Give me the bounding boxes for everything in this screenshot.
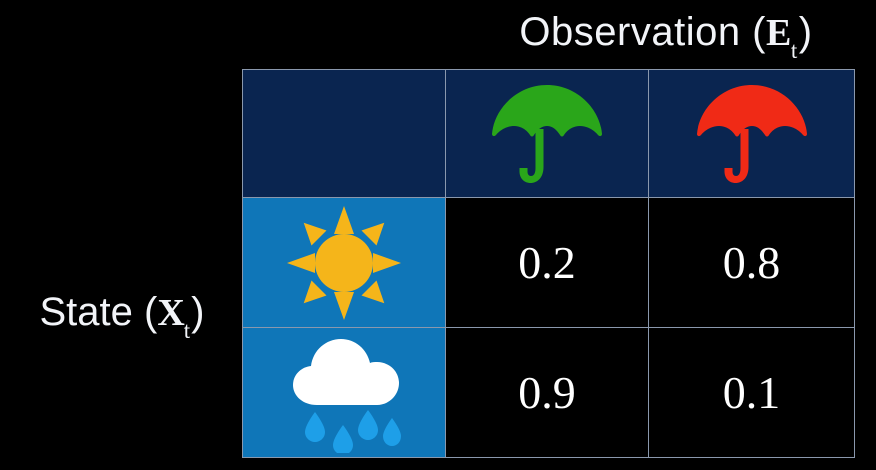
table-header-row bbox=[243, 70, 855, 198]
prob-value: 0.2 bbox=[446, 240, 648, 286]
observation-axis-label: Observation (Et) bbox=[466, 12, 866, 58]
umbrella-green-icon bbox=[488, 79, 606, 189]
prob-cell-sunny-umbrella-red: 0.8 bbox=[649, 198, 855, 328]
prob-value: 0.8 bbox=[649, 240, 854, 286]
prob-cell-rainy-umbrella-red: 0.1 bbox=[649, 328, 855, 458]
umbrella-red-icon-wrap bbox=[649, 70, 854, 197]
column-header-umbrella-red bbox=[649, 70, 855, 198]
state-cell-rainy bbox=[243, 328, 446, 458]
prob-value: 0.9 bbox=[446, 370, 648, 416]
prob-cell-rainy-umbrella-green: 0.9 bbox=[446, 328, 649, 458]
observation-variable: E bbox=[766, 12, 792, 54]
prob-value: 0.1 bbox=[649, 370, 854, 416]
umbrella-red-icon bbox=[693, 79, 811, 189]
state-label-text: State ( bbox=[39, 290, 157, 334]
sun-icon bbox=[285, 204, 403, 322]
observation-label-text: Observation ( bbox=[519, 10, 766, 54]
sun-icon-wrap bbox=[243, 198, 445, 327]
state-variable: X bbox=[157, 292, 184, 334]
prob-cell-sunny-umbrella-green: 0.2 bbox=[446, 198, 649, 328]
rain-cloud-icon-wrap bbox=[243, 328, 445, 457]
rain-cloud-icon bbox=[279, 333, 409, 453]
state-subscript: t bbox=[184, 318, 190, 343]
table-row-sunny: 0.2 0.8 bbox=[243, 198, 855, 328]
observation-subscript: t bbox=[791, 38, 798, 63]
state-label-close: ) bbox=[191, 290, 204, 334]
umbrella-green-icon-wrap bbox=[446, 70, 648, 197]
state-cell-sunny bbox=[243, 198, 446, 328]
sensor-model-table: 0.2 0.8 0.9 bbox=[242, 69, 855, 458]
observation-label-close: ) bbox=[799, 10, 813, 54]
column-header-umbrella-green bbox=[446, 70, 649, 198]
table-row-rainy: 0.9 0.1 bbox=[243, 328, 855, 458]
state-axis-label: State (Xt) bbox=[8, 292, 236, 338]
corner-cell bbox=[243, 70, 446, 198]
